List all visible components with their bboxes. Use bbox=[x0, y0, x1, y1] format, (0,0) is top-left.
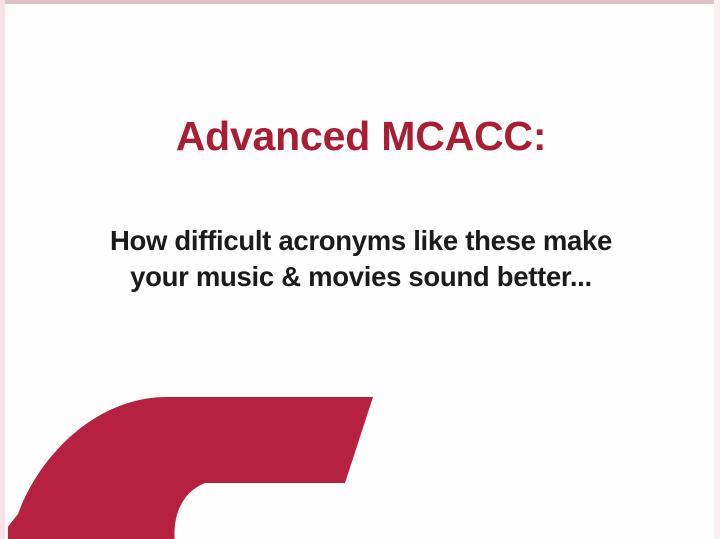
subtitle-line-2: your music & movies sound better... bbox=[8, 259, 714, 295]
slide-frame: Advanced MCACC: How difficult acronyms l… bbox=[0, 0, 720, 539]
red-arc-hook-graphic bbox=[8, 384, 400, 539]
title-block: Advanced MCACC: bbox=[8, 114, 714, 160]
page-border-left bbox=[0, 0, 5, 539]
slide-canvas: Advanced MCACC: How difficult acronyms l… bbox=[8, 4, 714, 539]
page-title: Advanced MCACC: bbox=[8, 114, 714, 160]
page-border-right bbox=[714, 0, 720, 539]
red-arc-hook-icon bbox=[8, 384, 400, 539]
subtitle-line-1: How difficult acronyms like these make bbox=[8, 223, 714, 259]
subtitle-block: How difficult acronyms like these make y… bbox=[8, 223, 714, 295]
